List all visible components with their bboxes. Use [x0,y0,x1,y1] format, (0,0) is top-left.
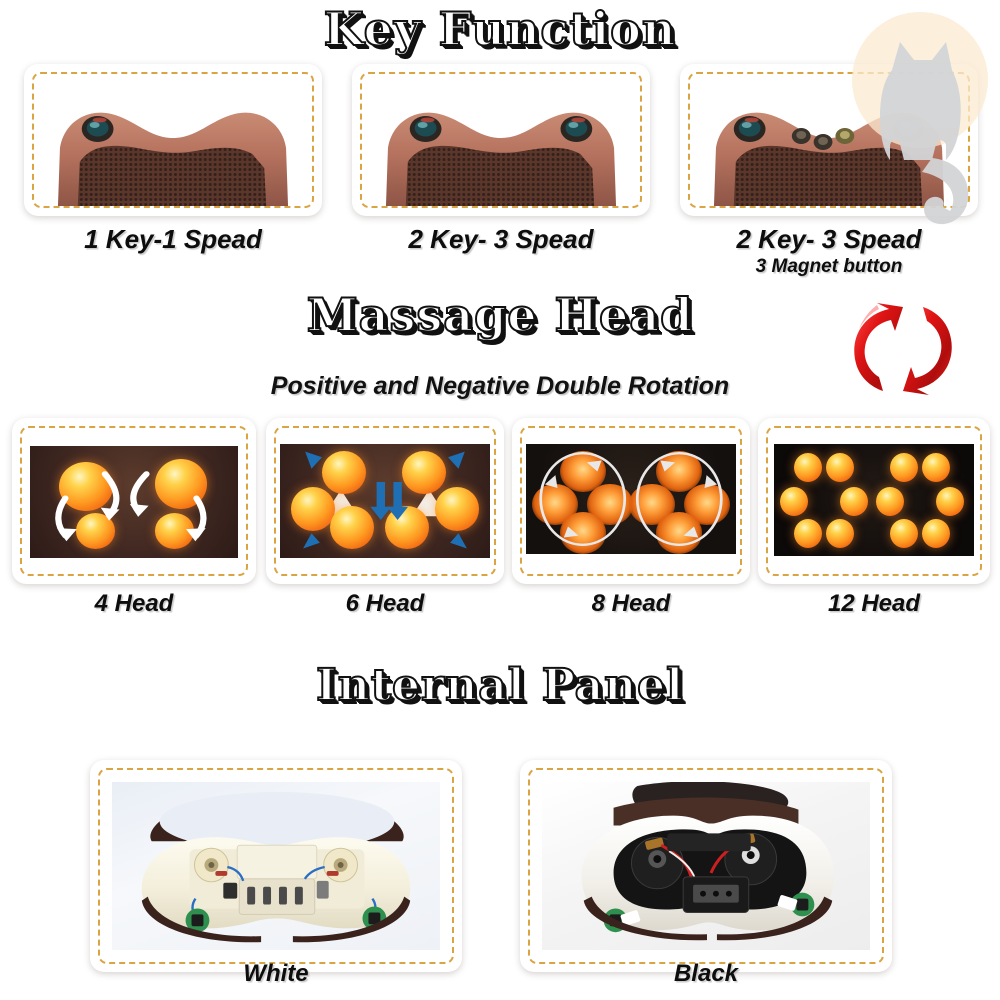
internal-panel-black-photo [542,782,870,950]
blue-arrows [280,444,490,558]
section-title-key-function: Key Function [0,2,1000,56]
section-title-internal-panel: Internal Panel [0,660,1000,711]
internal-panel-card-white[interactable] [90,760,462,972]
massage-head-caption-4: 4 Head [12,590,256,618]
key-function-card-3[interactable] [680,64,978,216]
infographic-page: Key Function [0,0,1000,1000]
massage-head-card-12[interactable] [758,418,990,584]
massage-head-6 [280,444,490,558]
internal-panel-card-black[interactable] [520,760,892,972]
key-function-caption-2: 2 Key- 3 Spead [352,224,650,255]
key-function-caption-3: 2 Key- 3 Spead [680,224,978,255]
massage-head-card-8[interactable] [512,418,750,584]
white-ring-arrows [526,444,736,554]
massage-head-12 [774,444,974,556]
key-function-subcaption-3: 3 Magnet button [680,256,978,278]
internal-panel-caption-black: Black [520,960,892,988]
massage-pillow-front-two-buttons-three-magnets [710,82,948,206]
massage-head-card-6[interactable] [266,418,504,584]
massage-head-caption-8: 8 Head [512,590,750,618]
massage-head-subtitle: Positive and Negative Double Rotation [0,372,1000,401]
key-function-card-1[interactable] [24,64,322,216]
massage-head-8 [526,444,736,554]
massage-head-caption-6: 6 Head [266,590,504,618]
massage-head-4 [30,446,238,558]
internal-panel-white-photo [112,782,440,950]
massage-head-card-4[interactable] [12,418,256,584]
key-function-card-2[interactable] [352,64,650,216]
massage-head-caption-12: 12 Head [758,590,990,618]
massage-pillow-front-one-button [54,82,292,206]
massage-pillow-front-two-buttons [382,82,620,206]
internal-panel-caption-white: White [90,960,462,988]
key-function-caption-1: 1 Key-1 Spead [24,224,322,255]
white-curved-arrows [30,446,238,558]
section-title-massage-head: Massage Head [0,288,1000,342]
